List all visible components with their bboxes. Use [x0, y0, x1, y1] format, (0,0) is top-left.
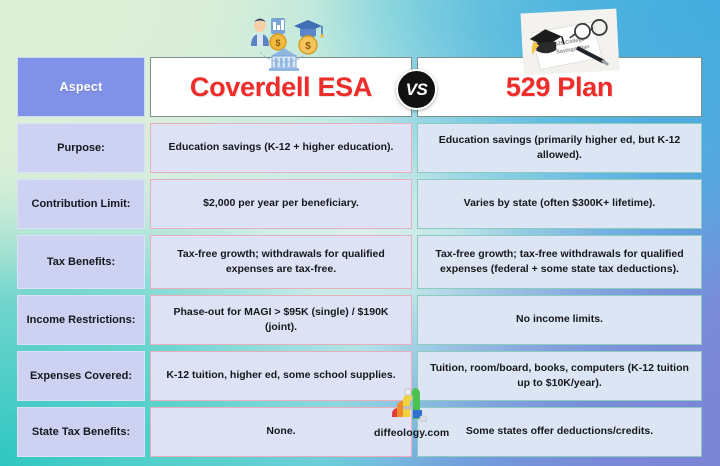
row-esa-value: Education savings (K-12 + higher educati… [150, 123, 412, 173]
row-aspect-label: Purpose: [17, 123, 145, 173]
header-cell-aspect: Aspect [17, 57, 145, 117]
row-esa-text: Tax-free growth; withdrawals for qualifi… [159, 247, 403, 277]
row-aspect-text: Contribution Limit: [32, 198, 131, 210]
svg-text:$: $ [275, 38, 280, 48]
row-aspect-label: Contribution Limit: [17, 179, 145, 229]
row-esa-text: Phase-out for MAGI > $95K (single) / $19… [159, 305, 403, 335]
row-aspect-text: State Tax Benefits: [32, 426, 130, 438]
table-row: Income Restrictions: Phase-out for MAGI … [17, 295, 703, 345]
row-aspect-text: Tax Benefits: [47, 256, 115, 268]
table-row: Purpose: Education savings (K-12 + highe… [17, 123, 703, 173]
row-aspect-label: Tax Benefits: [17, 235, 145, 289]
infographic-canvas: $ $ 529 College Saving [0, 0, 720, 466]
row-529-text: Some states offer deductions/credits. [466, 424, 653, 439]
row-esa-text: $2,000 per year per beneficiary. [203, 196, 359, 211]
row-aspect-label: Income Restrictions: [17, 295, 145, 345]
row-aspect-label: State Tax Benefits: [17, 407, 145, 457]
watermark: diffeology.com [374, 386, 449, 439]
row-529-text: Tax-free growth; tax-free withdrawals fo… [426, 247, 693, 277]
row-aspect-text: Expenses Covered: [30, 370, 132, 382]
row-esa-value: K-12 tuition, higher ed, some school sup… [150, 351, 412, 401]
table-row: Contribution Limit: $2,000 per year per … [17, 179, 703, 229]
row-esa-value: None. [150, 407, 412, 457]
vs-badge: VS [396, 69, 437, 110]
row-529-value: No income limits. [417, 295, 702, 345]
row-529-value: Education savings (primarily higher ed, … [417, 123, 702, 173]
row-529-text: No income limits. [516, 312, 603, 327]
row-esa-value: Tax-free growth; withdrawals for qualifi… [150, 235, 412, 289]
row-esa-text: Education savings (K-12 + higher educati… [169, 140, 394, 155]
row-529-value: Varies by state (often $300K+ lifetime). [417, 179, 702, 229]
table-row: State Tax Benefits: None. Some states of… [17, 407, 703, 457]
row-529-value: Tax-free growth; tax-free withdrawals fo… [417, 235, 702, 289]
row-aspect-label: Expenses Covered: [17, 351, 145, 401]
529-college-savings-plan-photo: 529 College Savings Plan [520, 9, 619, 76]
row-529-value: Tuition, room/board, books, computers (K… [417, 351, 702, 401]
svg-text:$: $ [305, 41, 311, 52]
vs-label: VS [406, 81, 428, 98]
row-esa-value: Phase-out for MAGI > $95K (single) / $19… [150, 295, 412, 345]
row-529-text: Education savings (primarily higher ed, … [426, 133, 693, 163]
row-esa-text: K-12 tuition, higher ed, some school sup… [166, 368, 395, 383]
table-row: Expenses Covered: K-12 tuition, higher e… [17, 351, 703, 401]
rainbow-logo-icon [390, 386, 434, 426]
529-plan-title: 529 Plan [506, 74, 613, 101]
row-529-text: Varies by state (often $300K+ lifetime). [464, 196, 656, 211]
row-esa-text: None. [266, 424, 295, 439]
aspect-label: Aspect [60, 80, 103, 94]
row-529-text: Tuition, room/board, books, computers (K… [426, 361, 693, 391]
coverdell-esa-title: Coverdell ESA [190, 74, 372, 101]
watermark-text: diffeology.com [374, 427, 449, 439]
row-aspect-text: Purpose: [57, 142, 105, 154]
table-row: Tax Benefits: Tax-free growth; withdrawa… [17, 235, 703, 289]
comparison-table: Aspect Coverdell ESA 529 Plan Purpose: E… [17, 57, 703, 457]
row-esa-value: $2,000 per year per beneficiary. [150, 179, 412, 229]
row-aspect-text: Income Restrictions: [27, 314, 136, 326]
education-savings-illustration-icon: $ $ [238, 12, 334, 74]
row-529-value: Some states offer deductions/credits. [417, 407, 702, 457]
